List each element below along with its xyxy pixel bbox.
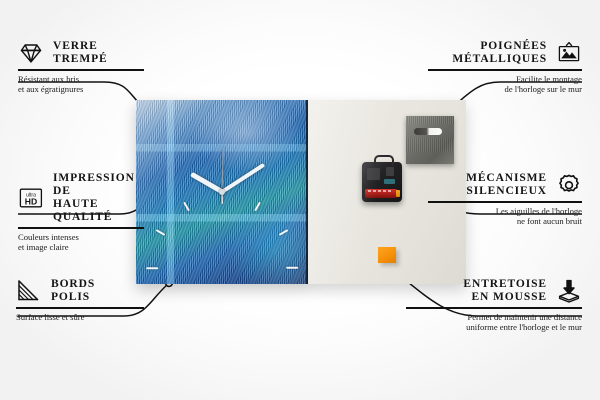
arrow-down-foam-pad-icon xyxy=(556,278,582,304)
callout-title: MÉCANISME SILENCIEUX xyxy=(466,172,547,198)
mechanism-detail xyxy=(386,167,394,176)
callout-title: VERRE TREMPÉ xyxy=(53,40,108,66)
gear-icon xyxy=(556,172,582,198)
callout-subtitle: Couleurs intenses et image claire xyxy=(18,232,144,253)
foam-spacer-pad xyxy=(378,247,396,263)
callout-title: IMPRESSION DE HAUTE QUALITÉ xyxy=(53,172,144,224)
clock-minute-hand xyxy=(221,163,265,194)
callout-title: BORDS POLIS xyxy=(51,278,95,304)
clock-tick xyxy=(254,202,261,212)
callout-title: POIGNÉES MÉTALLIQUES xyxy=(452,40,547,66)
clock-hour-hand xyxy=(190,172,224,194)
infographic-canvas: VERRE TREMPÉ Résistant aux bris et aux é… xyxy=(0,0,600,400)
battery-label xyxy=(368,190,392,192)
callout-rule xyxy=(428,201,582,203)
clock-tick xyxy=(183,202,190,212)
clock-battery xyxy=(365,189,397,198)
callout-rule xyxy=(428,69,582,71)
ultra-hd-badge-icon: ultra HD xyxy=(18,185,44,211)
clock-center-cap xyxy=(219,189,225,195)
clock-tick xyxy=(156,229,166,236)
callout-subtitle: Surface lisse et sûre xyxy=(16,312,142,323)
clock-mechanism-module xyxy=(362,162,402,202)
hd-text: HD xyxy=(25,196,37,206)
callout-high-quality-print: ultra HD IMPRESSION DE HAUTE QUALITÉ Cou… xyxy=(18,172,144,253)
clock-second-hand xyxy=(221,148,224,204)
callout-rule xyxy=(18,69,144,71)
metal-hanger-plate-icon xyxy=(406,116,454,164)
mechanism-detail xyxy=(384,179,395,184)
callout-title: ENTRETOISE EN MOUSSE xyxy=(463,278,547,304)
clock-tick xyxy=(146,267,158,269)
callout-metal-hangers: POIGNÉES MÉTALLIQUES Facilite le montage… xyxy=(428,40,582,95)
callout-tempered-glass: VERRE TREMPÉ Résistant aux bris et aux é… xyxy=(18,40,144,95)
keyhole-slot xyxy=(414,128,442,135)
mechanism-detail xyxy=(367,168,380,180)
clock-tick xyxy=(279,229,289,236)
callout-silent-mechanism: MÉCANISME SILENCIEUX Les aiguilles de l'… xyxy=(428,172,582,227)
callout-rule xyxy=(18,227,144,229)
product-image xyxy=(136,100,466,284)
polished-edge-icon xyxy=(16,278,42,304)
clock-tick xyxy=(221,192,223,204)
clock-front-face xyxy=(136,100,308,284)
callout-subtitle: Permet de maintenir une distance uniform… xyxy=(406,312,582,333)
callout-subtitle: Résistant aux bris et aux égratignures xyxy=(18,74,144,95)
callout-subtitle: Facilite le montage de l'horloge sur le … xyxy=(428,74,582,95)
callout-foam-spacer: ENTRETOISE EN MOUSSE Permet de maintenir… xyxy=(406,278,582,333)
diamond-icon xyxy=(18,40,44,66)
callout-rule xyxy=(16,307,144,309)
callout-subtitle: Les aiguilles de l'horloge ne font aucun… xyxy=(428,206,582,227)
mechanism-hanger-hook xyxy=(374,155,394,166)
callout-rule xyxy=(406,307,582,309)
callout-polished-edges: BORDS POLIS Surface lisse et sûre xyxy=(16,278,142,322)
hanging-picture-frame-icon xyxy=(556,40,582,66)
clock-tick xyxy=(286,267,298,269)
